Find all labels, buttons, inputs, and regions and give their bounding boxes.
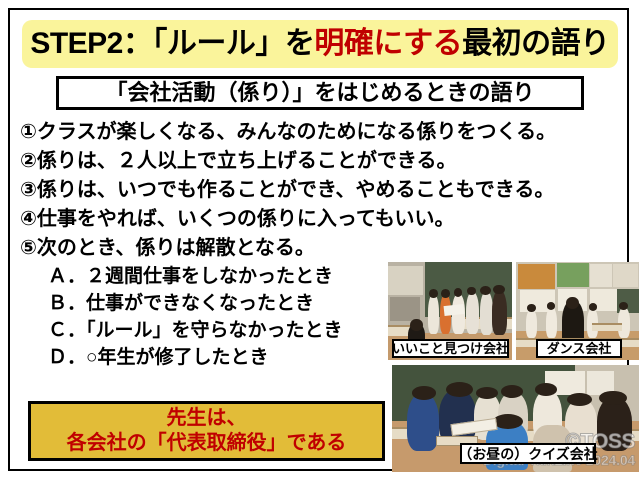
- subheading-text: 「会社活動（係り）」をはじめるときの語り: [105, 82, 534, 104]
- photo-caption: （お昼の）クイズ会社: [460, 443, 596, 464]
- slide-canvas: STEP2：「ルール」を明確にする最初の語り 「会社活動（係り）」をはじめるとき…: [0, 0, 640, 482]
- rule-item: ③係りは、いつでも作ることができ、やめることもできる。: [20, 180, 450, 200]
- title-banner: STEP2：「ルール」を明確にする最初の語り: [22, 20, 618, 68]
- title-highlight: 明確にする: [314, 27, 462, 60]
- rule-item: ⑤次のとき、係りは解散となる。: [20, 238, 450, 258]
- rules-list: ①クラスが楽しくなる、みんなのためになる係りをつくる。 ②係りは、２人以上で立ち…: [20, 122, 450, 375]
- rule-item: ①クラスが楽しくなる、みんなのためになる係りをつくる。: [20, 122, 450, 142]
- title-prefix: STEP2：「ルール」を: [30, 27, 314, 60]
- rule-item: ②係りは、２人以上で立ち上げることができる。: [20, 151, 450, 171]
- page-title: STEP2：「ルール」を明確にする最初の語り: [30, 29, 609, 59]
- photo-caption: ダンス会社: [536, 339, 622, 358]
- callout-line-1: 先生は、: [167, 406, 247, 431]
- rule-item: ④仕事をやれば、いくつの係りに入ってもいい。: [20, 209, 450, 229]
- photo-caption: いいこと見つけ会社: [392, 339, 509, 358]
- title-suffix: 最初の語り: [462, 27, 610, 60]
- callout-line-2: 各会社の「代表取締役」である: [67, 431, 347, 456]
- callout-box: 先生は、 各会社の「代表取締役」である: [28, 401, 385, 461]
- subheading-box: 「会社活動（係り）」をはじめるときの語り: [56, 76, 584, 110]
